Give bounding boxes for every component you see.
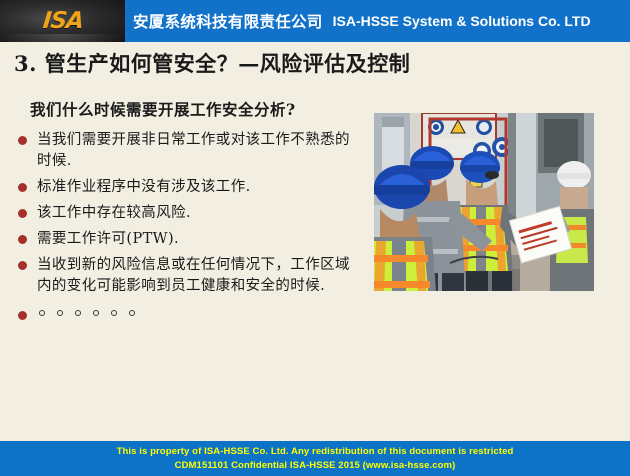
slide-title: 3. 管生产如何管安全？—风险评估及控制 <box>14 48 410 78</box>
company-name-english: ISA-HSSE System & Solutions Co. LTD <box>333 13 591 29</box>
company-banner: 安厦系统科技有限责任公司 ISA-HSSE System & Solutions… <box>125 0 630 42</box>
bullet-text: 该工作中存在较高风险. <box>37 203 191 224</box>
list-item: 当我们需要开展非日常工作或对该工作不熟悉的时候. <box>18 130 358 172</box>
ellipsis-circle-icon <box>129 310 135 316</box>
footer-confidential-line: CDM151101 Confidential ISA-HSSE 2015 (ww… <box>175 459 456 473</box>
bullet-text: 当我们需要开展非日常工作或对该工作不熟悉的时候. <box>37 130 358 172</box>
slide-footer: This is property of ISA-HSSE Co. Ltd. An… <box>0 441 630 476</box>
safety-briefing-photo <box>374 113 594 291</box>
bullet-dot-icon <box>18 261 27 270</box>
list-item: 需要工作许可(PTW). <box>18 229 358 250</box>
ellipsis-circle-icon <box>75 310 81 316</box>
photo-graphic <box>374 113 594 291</box>
bullet-dot-icon <box>18 183 27 192</box>
bullet-dot-icon <box>18 235 27 244</box>
slide-subtitle: 我们什么时候需要开展工作安全分析? <box>30 98 296 120</box>
list-item-ellipsis <box>18 305 358 320</box>
isa-logo: ISA <box>0 0 125 42</box>
bullet-text: 需要工作许可(PTW). <box>37 229 179 250</box>
logo-text: ISA <box>41 8 84 34</box>
footer-copyright-line: This is property of ISA-HSSE Co. Ltd. An… <box>117 445 514 459</box>
ellipsis-circle-icon <box>57 310 63 316</box>
bullet-text: 当收到新的风险信息或在任何情况下，工作区域内的变化可能影响到员工健康和安全的时候… <box>37 255 358 297</box>
presentation-slide: ISA 安厦系统科技有限责任公司 ISA-HSSE System & Solut… <box>0 0 630 476</box>
bullet-dot-icon <box>18 209 27 218</box>
company-name-chinese: 安厦系统科技有限责任公司 <box>133 10 323 32</box>
ellipsis-circle-icon <box>111 310 117 316</box>
list-item: 标准作业程序中没有涉及该工作. <box>18 177 358 198</box>
bullet-dot-icon <box>18 136 27 145</box>
bullet-list: 当我们需要开展非日常工作或对该工作不熟悉的时候. 标准作业程序中没有涉及该工作.… <box>18 130 358 320</box>
list-item: 当收到新的风险信息或在任何情况下，工作区域内的变化可能影响到员工健康和安全的时候… <box>18 255 358 297</box>
ellipsis-circle-icon <box>39 310 45 316</box>
ellipsis-dots <box>39 310 135 316</box>
bullet-text: 标准作业程序中没有涉及该工作. <box>37 177 251 198</box>
slide-header: ISA 安厦系统科技有限责任公司 ISA-HSSE System & Solut… <box>0 0 630 42</box>
ellipsis-circle-icon <box>93 310 99 316</box>
bullet-dot-icon <box>18 311 27 320</box>
list-item: 该工作中存在较高风险. <box>18 203 358 224</box>
